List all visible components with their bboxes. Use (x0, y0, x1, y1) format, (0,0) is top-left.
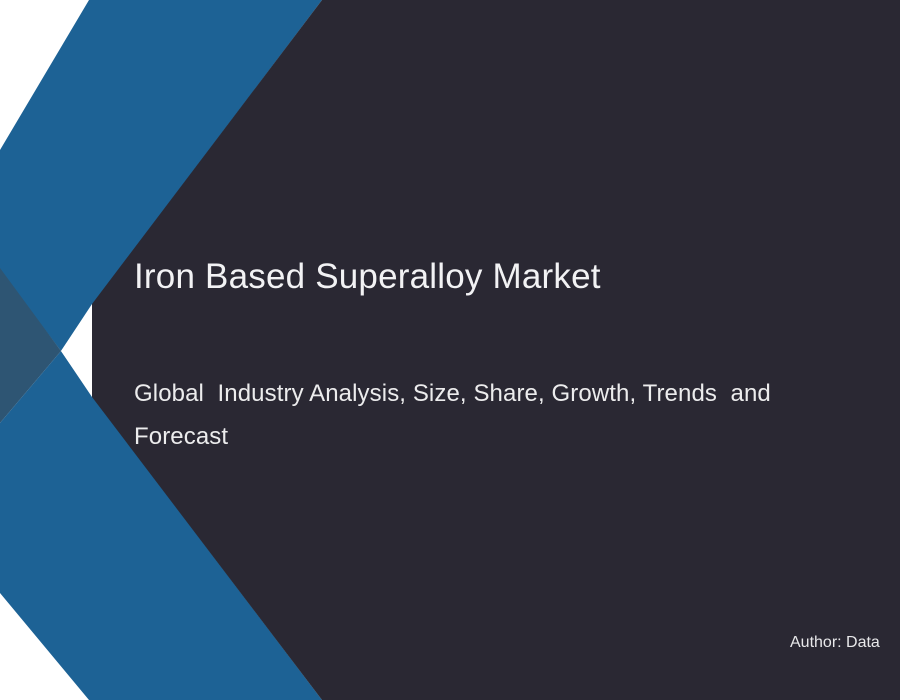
slide-subtitle: Global Industry Analysis, Size, Share, G… (134, 372, 834, 458)
slide-content-layer: Iron Based Superalloy Market Global Indu… (0, 0, 900, 700)
presentation-slide: Iron Based Superalloy Market Global Indu… (0, 0, 900, 700)
author-credit: Author: Data (790, 632, 880, 654)
page-title: Iron Based Superalloy Market (134, 255, 854, 299)
